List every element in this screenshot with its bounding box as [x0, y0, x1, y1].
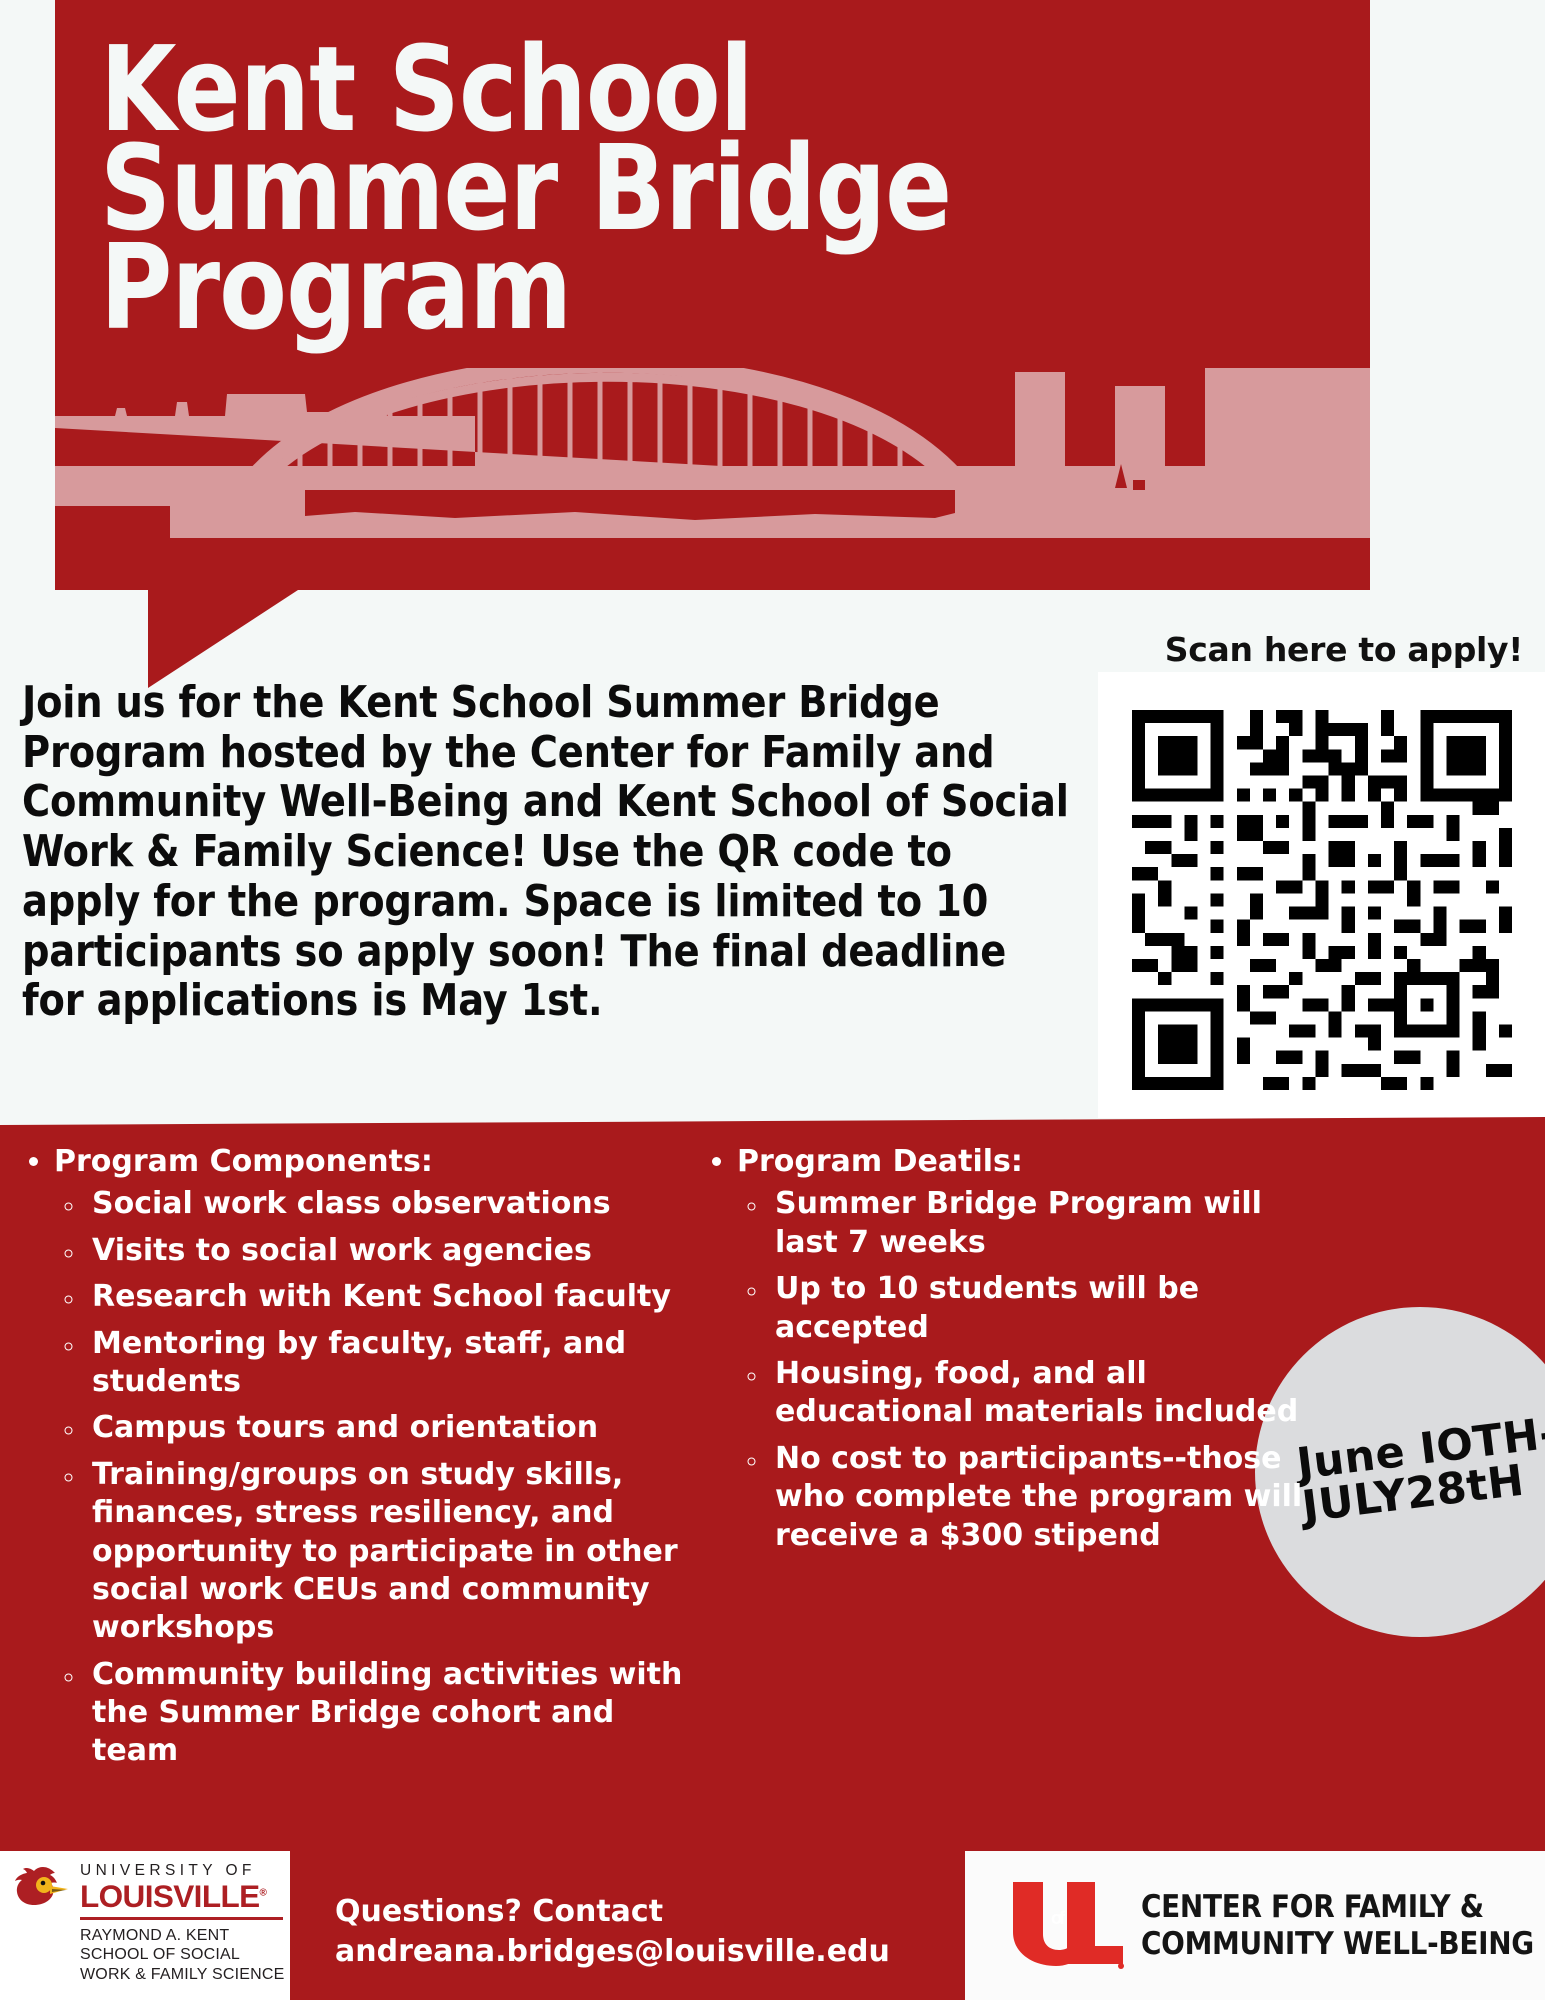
- column-heading: Program Deatils:: [737, 1144, 1023, 1179]
- center-family-community-wellbeing-logo: o f CENTER FOR FAMILY & COMMUNITY WELL-B…: [965, 1851, 1545, 2000]
- list-item: No cost to participants--those who compl…: [769, 1440, 1320, 1555]
- list-item: Training/groups on study skills, finance…: [86, 1456, 700, 1648]
- contact-text: Questions? Contact andreana.bridges@loui…: [335, 1892, 890, 1972]
- list-item: Visits to social work agencies: [86, 1232, 700, 1270]
- hero-notch-shape: [148, 590, 298, 688]
- list-item: Program Deatils: Summer Bridge Program w…: [737, 1143, 1320, 1555]
- list-item: Up to 10 students will be accepted: [769, 1270, 1320, 1347]
- kent-school-lines: RAYMOND A. KENT SCHOOL OF SOCIAL WORK & …: [80, 1926, 285, 1985]
- scan-here-label: Scan here to apply!: [1165, 630, 1523, 669]
- program-details-column: Program Deatils: Summer Bridge Program w…: [700, 1143, 1320, 1779]
- flyer-page: Kent School Summer Bridge Program: [0, 0, 1545, 2000]
- louisville-wordmark: LOUISVILLE®: [80, 1880, 285, 1913]
- divider: [80, 1917, 283, 1920]
- page-title: Kent School Summer Bridge Program: [100, 40, 1216, 337]
- intro-paragraph: Join us for the Kent School Summer Bridg…: [22, 678, 1079, 1026]
- list-item: Community building activities with the S…: [86, 1656, 700, 1771]
- list-item: Mentoring by faculty, staff, and student…: [86, 1325, 700, 1402]
- list-item: Research with Kent School faculty: [86, 1278, 700, 1316]
- uofl-wordmark: UNIVERSITY OF LOUISVILLE® RAYMOND A. KEN…: [80, 1863, 285, 1984]
- uofl-monogram-icon: o f: [1007, 1878, 1127, 1973]
- list-item: Campus tours and orientation: [86, 1409, 700, 1447]
- details-band: June IOTH- JULY28tH Program Components: …: [0, 1117, 1545, 1845]
- uofl-kent-school-logo: UNIVERSITY OF LOUISVILLE® RAYMOND A. KEN…: [0, 1851, 290, 2000]
- list-item: Social work class observations: [86, 1185, 700, 1223]
- list-item: Housing, food, and all educational mater…: [769, 1355, 1320, 1432]
- list-item: Program Components: Social work class ob…: [54, 1143, 700, 1771]
- svg-text:f: f: [1059, 1908, 1066, 1928]
- hero-banner: Kent School Summer Bridge Program: [55, 0, 1370, 590]
- registered-mark: ®: [260, 1887, 267, 1898]
- list-item: Summer Bridge Program will last 7 weeks: [769, 1185, 1320, 1262]
- center-name-label: CENTER FOR FAMILY & COMMUNITY WELL-BEING: [1141, 1889, 1534, 1962]
- qr-code-icon[interactable]: [1132, 710, 1512, 1090]
- column-heading: Program Components:: [54, 1144, 433, 1179]
- bridge-silhouette-illustration: [55, 368, 1370, 590]
- details-columns: Program Components: Social work class ob…: [0, 1143, 1545, 1779]
- program-components-column: Program Components: Social work class ob…: [0, 1143, 700, 1779]
- cardinal-bird-icon: [12, 1865, 72, 1922]
- university-of-label: UNIVERSITY OF: [80, 1863, 285, 1879]
